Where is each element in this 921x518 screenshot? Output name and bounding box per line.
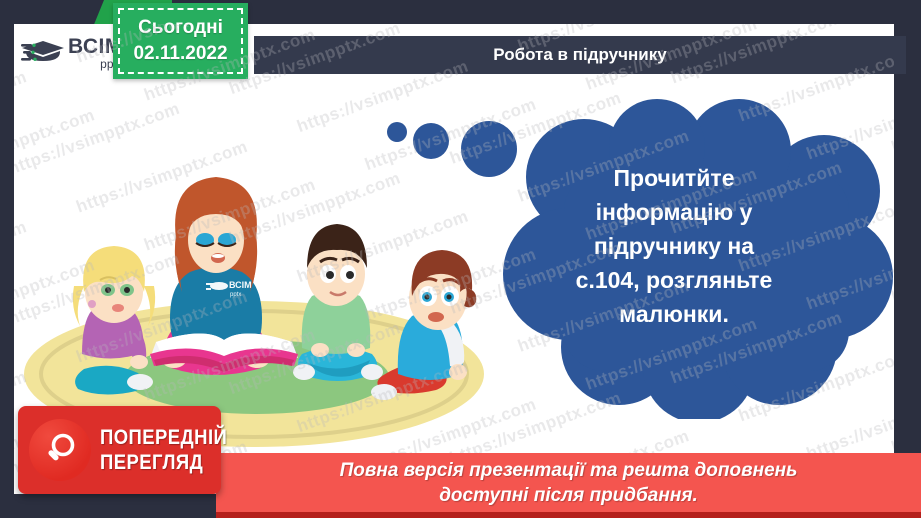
speech-bubble: Прочитйте інформацію у підручнику на с.1…	[369, 99, 894, 419]
preview-line-2: ПЕРЕГЛЯД	[100, 450, 227, 475]
header-title-bar: Робота в підручнику	[254, 36, 906, 74]
date-badge-label: Сьогодні	[138, 15, 223, 41]
slide-root: ВСІМ pptx	[0, 0, 921, 518]
graduation-cap-icon	[20, 33, 66, 73]
preview-badge-label: ПОПЕРЕДНІЙ ПЕРЕГЛЯД	[100, 425, 227, 475]
preview-line-1: ПОПЕРЕДНІЙ	[100, 425, 227, 450]
magnifier-icon	[29, 419, 91, 481]
bubble-line-1: Прочитйте	[519, 161, 829, 195]
svg-text:ВСІМ: ВСІМ	[229, 280, 252, 290]
bottom-notice-banner: Повна версія презентації та решта доповн…	[216, 453, 921, 518]
date-badge: Сьогодні 02.11.2022	[113, 3, 248, 79]
bubble-line-5: малюнки.	[519, 297, 829, 331]
bubble-line-2: інформацію у	[519, 195, 829, 229]
bottom-banner-line-2: доступні після придбання.	[439, 483, 698, 508]
page-title: Робота в підручнику	[493, 45, 666, 65]
preview-badge[interactable]: ПОПЕРЕДНІЙ ПЕРЕГЛЯД	[18, 406, 221, 494]
bubble-line-3: підручнику на	[519, 229, 829, 263]
speech-bubble-text: Прочитйте інформацію у підручнику на с.1…	[519, 161, 829, 331]
date-badge-date: 02.11.2022	[133, 41, 227, 67]
bubble-line-4: с.104, розгляньте	[519, 263, 829, 297]
bottom-banner-line-1: Повна версія презентації та решта доповн…	[340, 458, 798, 483]
svg-text:pptx: pptx	[230, 292, 241, 298]
